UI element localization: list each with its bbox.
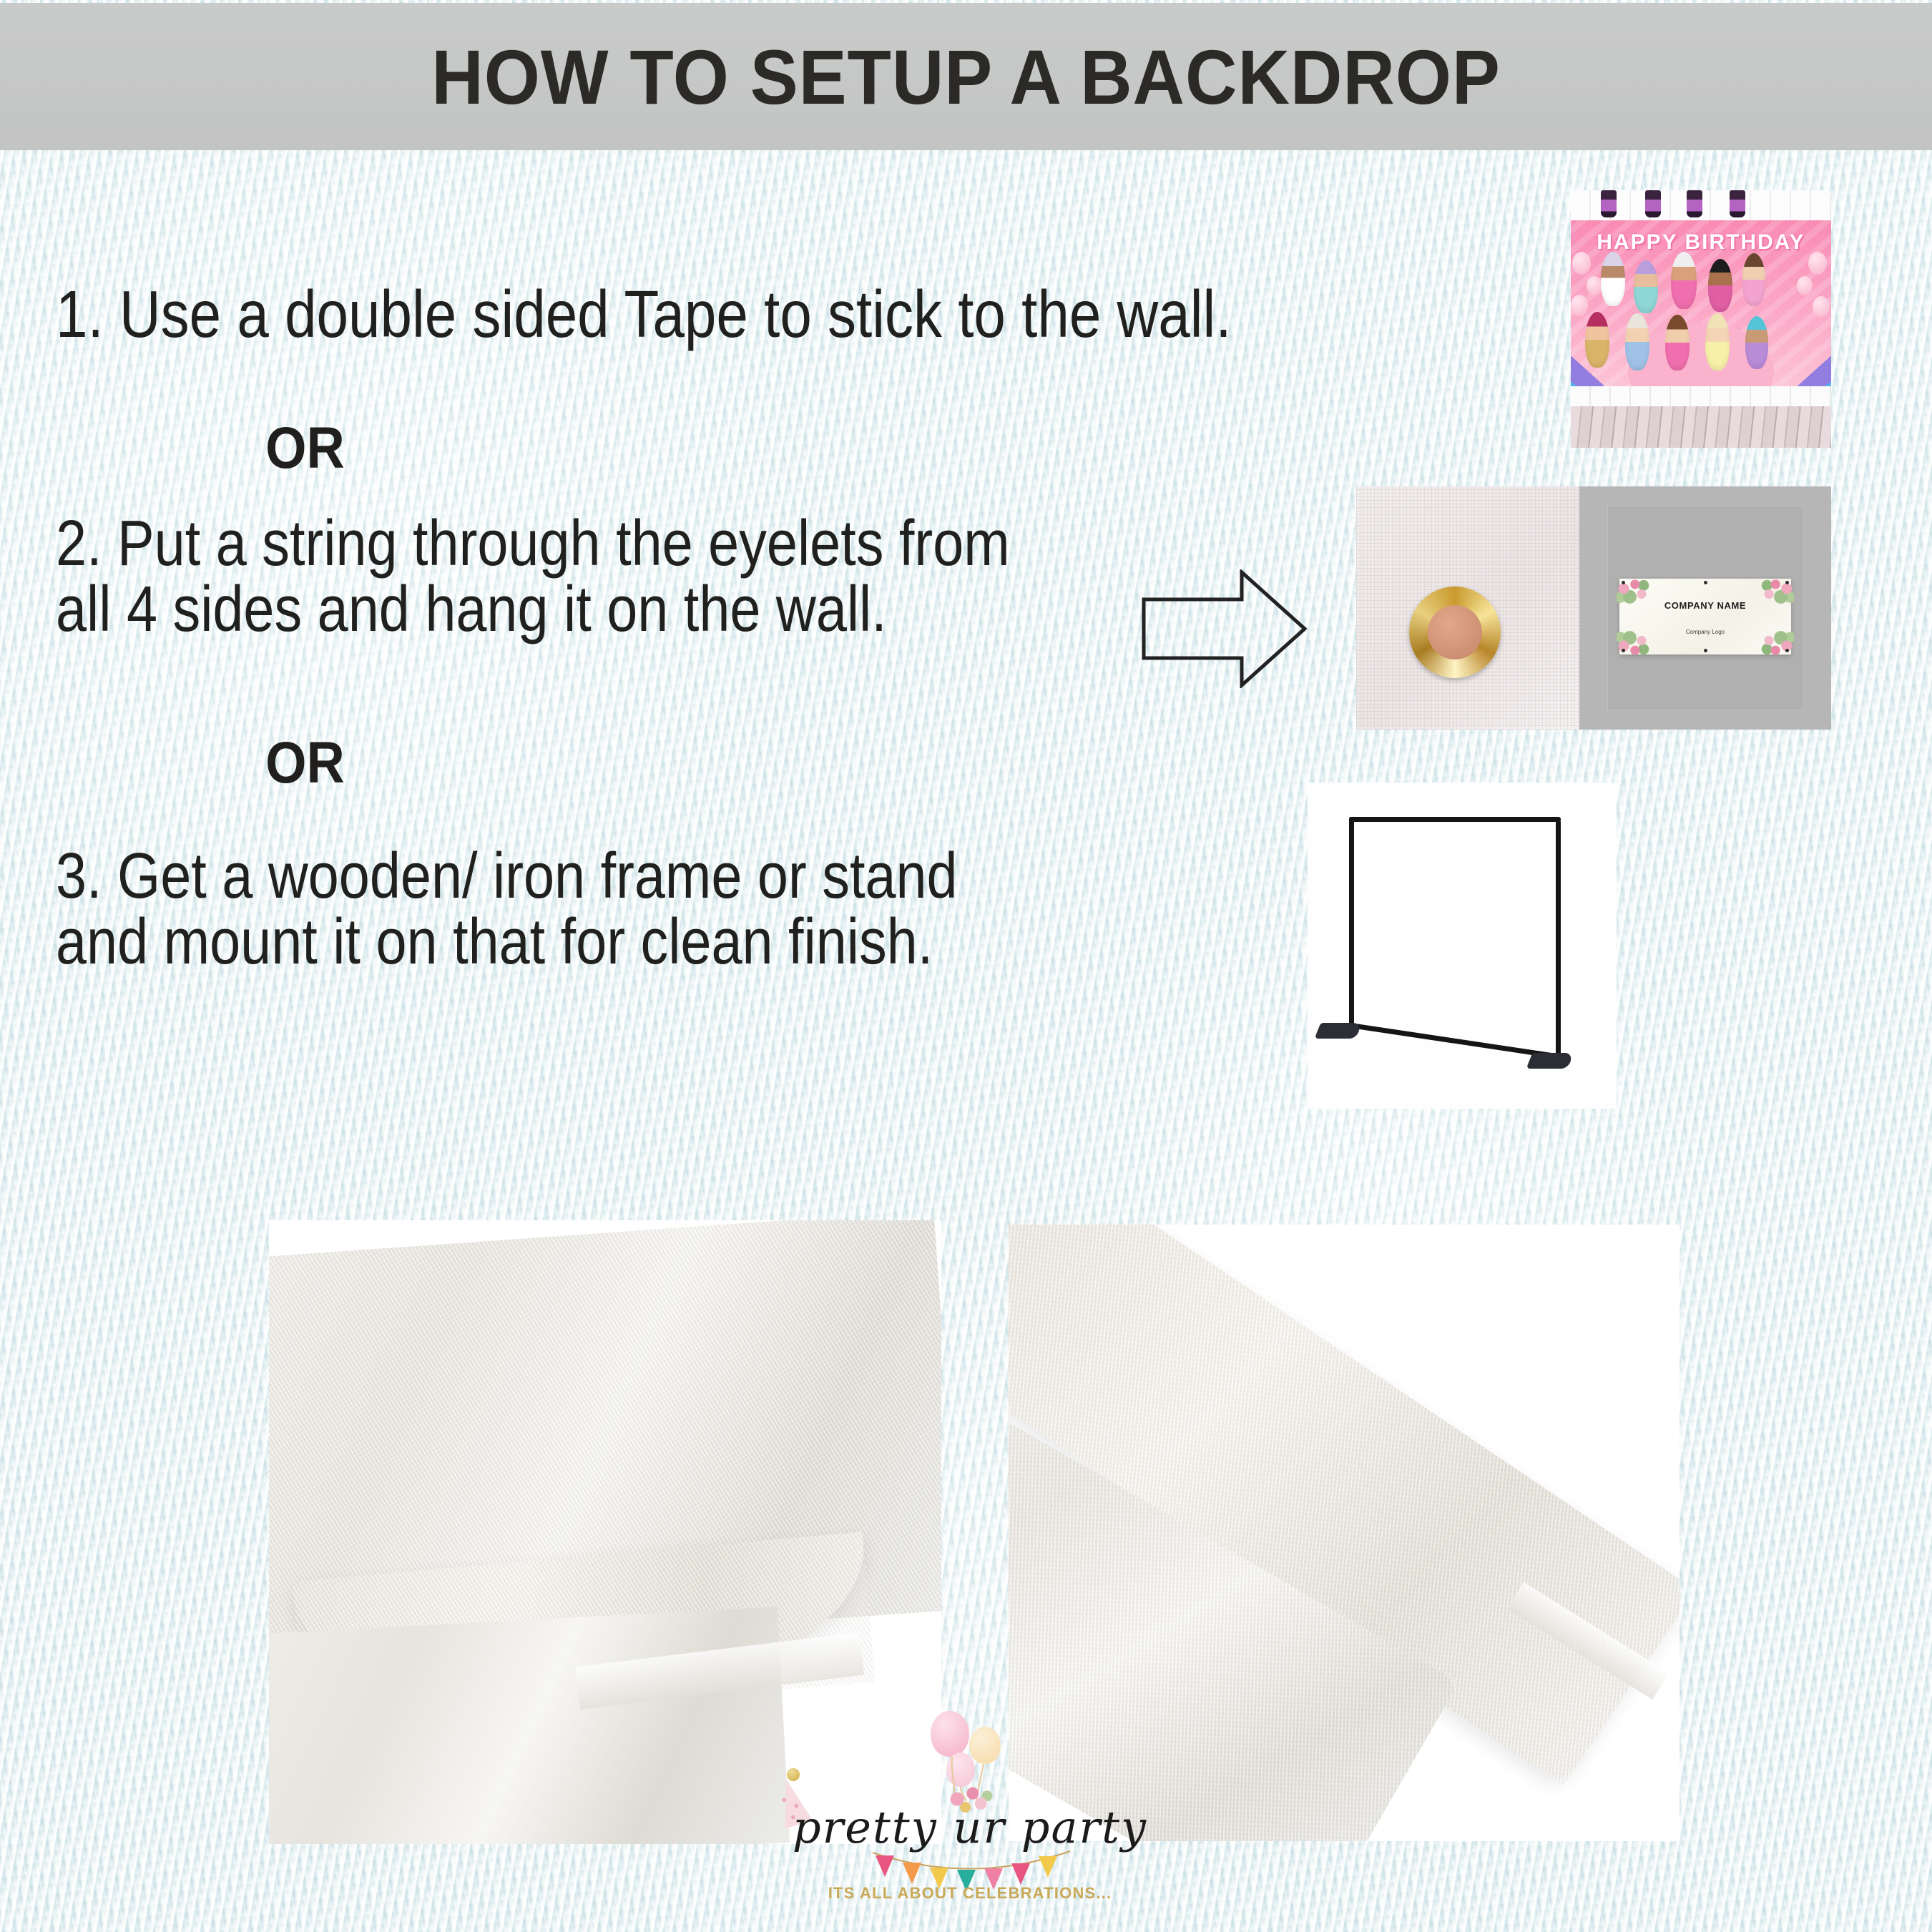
- clamp-clip-icon: [1645, 190, 1661, 217]
- stand-foot-right: [1526, 1053, 1574, 1069]
- mounted-banner: COMPANY NAME Company Logo: [1619, 579, 1790, 654]
- vinyl-sheet-bottom: [269, 1607, 790, 1844]
- banner-grommet: [1622, 649, 1625, 652]
- photo-backdrop-stand: [1308, 783, 1617, 1109]
- stand-left-pole: [1349, 817, 1354, 1026]
- balloon: [1813, 296, 1830, 318]
- stand-right-pole: [1556, 820, 1561, 1056]
- right-arrow-icon: [1142, 569, 1308, 688]
- banner-grommet: [1704, 649, 1707, 652]
- banner-grommet: [1785, 649, 1789, 652]
- doll-figure: [1671, 252, 1697, 309]
- photo-birthday-backdrop: HAPPY BIRTHDAY: [1571, 190, 1831, 448]
- banner-grommet: [1785, 581, 1789, 584]
- brand-tagline: ITS ALL ABOUT CELEBRATIONS...: [755, 1884, 1185, 1903]
- banner-company-name: COMPANY NAME: [1619, 600, 1790, 611]
- doll-figure: [1585, 312, 1609, 368]
- backdrop-happy-birthday-text: HAPPY BIRTHDAY: [1571, 230, 1831, 255]
- photo-eyelet-closeup: [1356, 486, 1579, 730]
- doll-figure: [1601, 252, 1625, 306]
- stand-top-crossbar: [1349, 817, 1561, 822]
- brand-logo: pretty ur party ITS ALL ABOUT CELEBRATIO…: [755, 1715, 1185, 1913]
- balloon: [1572, 252, 1591, 275]
- balloon: [1587, 276, 1602, 295]
- backdrop-top-strip: [1571, 190, 1831, 220]
- bunting-flag: [876, 1855, 894, 1877]
- party-hat-pompom: [787, 1768, 800, 1781]
- backdrop-bottom-strip: [1571, 386, 1831, 406]
- header-band: HOW TO SETUP A BACKDROP: [0, 3, 1932, 150]
- doll-figure: [1745, 316, 1768, 369]
- doll-figure: [1625, 313, 1649, 371]
- separator-or-2: OR: [265, 730, 345, 797]
- balloon: [1797, 276, 1813, 295]
- clamp-clip-icon: [1730, 190, 1745, 217]
- step-2-text: 2. Put a string through the eyelets from…: [56, 511, 1010, 643]
- bunting-flag: [903, 1863, 921, 1884]
- clamp-clip-icon: [1687, 190, 1702, 217]
- page-title: HOW TO SETUP A BACKDROP: [431, 32, 1501, 122]
- photo-wall-banner-mockup: COMPANY NAME Company Logo: [1579, 486, 1831, 730]
- doll-figure: [1742, 253, 1765, 306]
- eyelet-hole: [1428, 605, 1482, 659]
- bunting-flag: [1011, 1863, 1030, 1885]
- doll-figure: [1634, 260, 1658, 313]
- bunting-flag: [1039, 1856, 1057, 1878]
- banner-grommet: [1704, 581, 1707, 584]
- doll-figure: [1705, 313, 1730, 371]
- doll-figure: [1708, 259, 1732, 312]
- brand-name: pretty ur party: [755, 1801, 1185, 1853]
- balloon: [1571, 295, 1588, 316]
- step-1-text: 1. Use a double sided Tape to stick to t…: [56, 280, 1232, 348]
- clamp-clip-icon: [1601, 190, 1617, 217]
- bunting-flags-icon: [871, 1848, 1072, 1881]
- banner-company-logo-text: Company Logo: [1619, 629, 1790, 635]
- doll-figure: [1665, 315, 1690, 371]
- stand-foot-left: [1315, 1023, 1363, 1039]
- backdrop-printed-area: HAPPY BIRTHDAY: [1571, 220, 1831, 386]
- brass-eyelet-ring: [1409, 587, 1501, 678]
- balloon: [1808, 252, 1827, 275]
- wooden-floor-strip: [1571, 406, 1831, 448]
- separator-or-1: OR: [265, 415, 345, 482]
- step-3-text: 3. Get a wooden/ iron frame or stand and…: [56, 844, 958, 976]
